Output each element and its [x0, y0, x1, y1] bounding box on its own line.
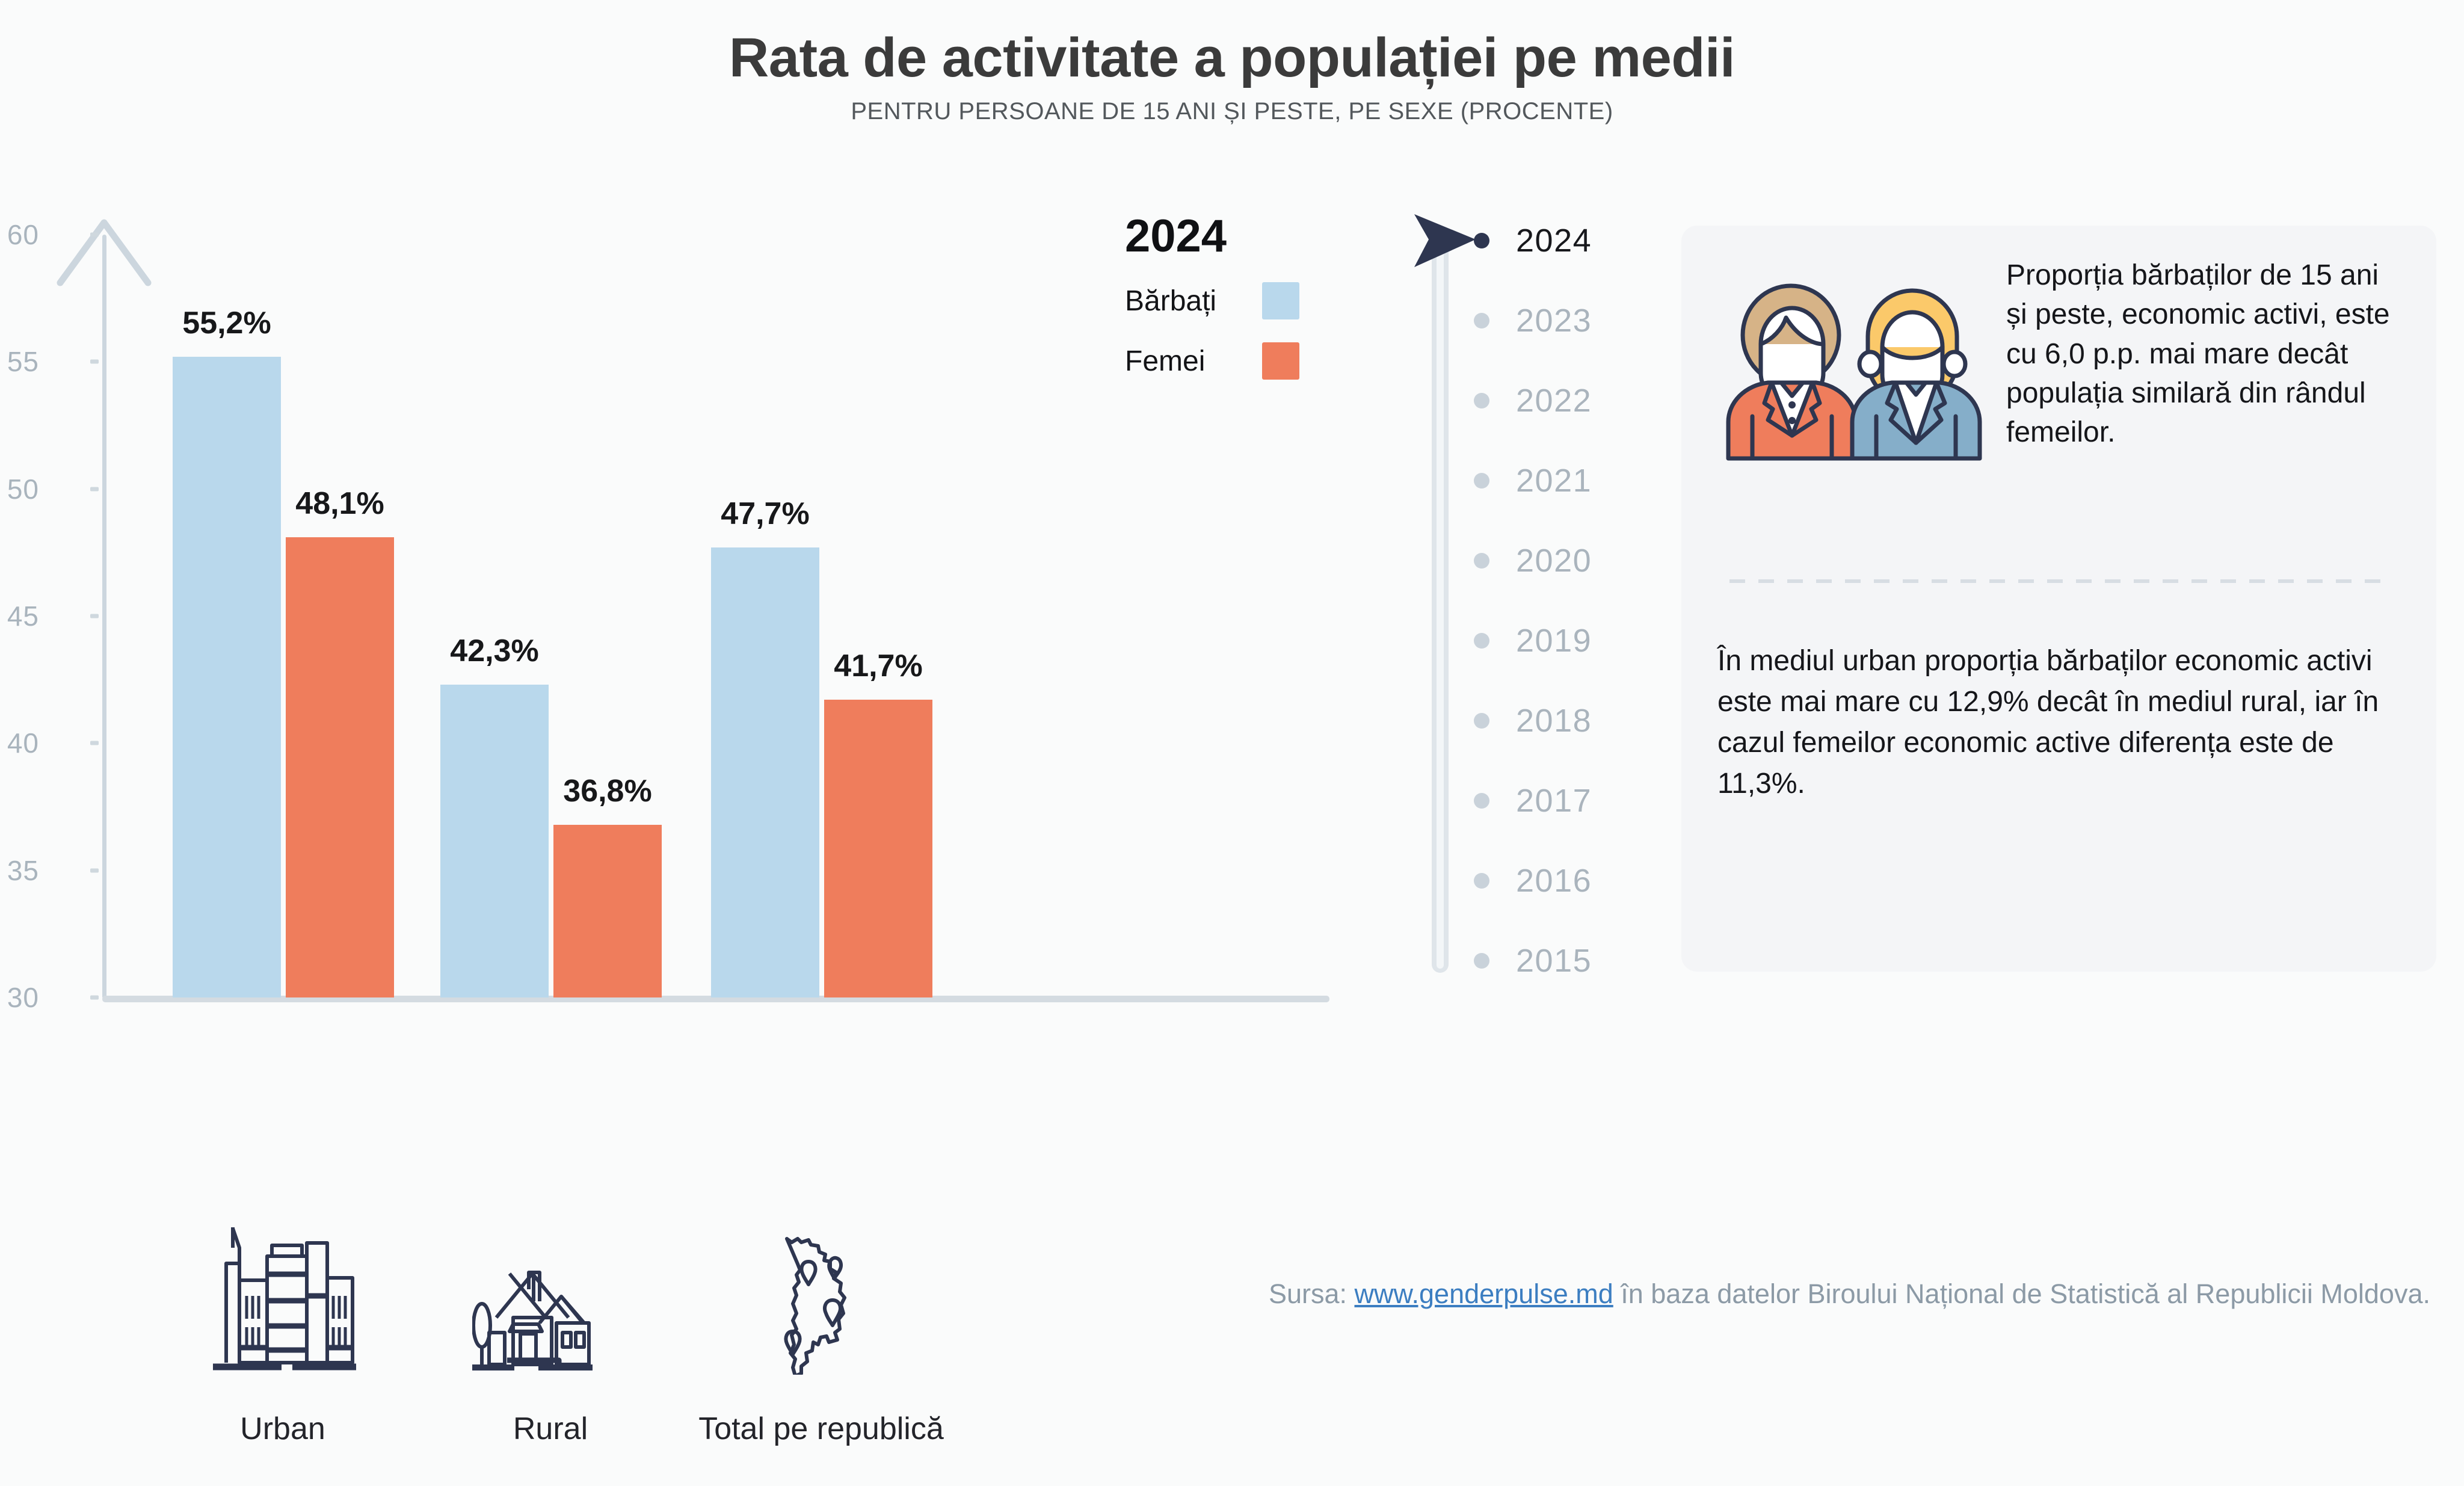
bar-fill — [440, 685, 549, 997]
chart-legend: 2024 Bărbați Femei — [1125, 214, 1323, 380]
timeline-dot — [1474, 873, 1489, 889]
page-subtitle: PENTRU PERSOANE DE 15 ANI ȘI PESTE, PE S… — [0, 98, 2464, 125]
year-timeline-selector[interactable]: 2024202320222021202020192018201720162015 — [1417, 223, 1645, 987]
page-header: Rata de activitate a populației pe medii… — [0, 0, 2464, 125]
timeline-dot — [1474, 553, 1489, 569]
timeline-year-2021[interactable]: 2021 — [1417, 463, 1645, 499]
info-panel-text-primary: Proporția bărbaților de 15 ani și peste,… — [2006, 256, 2403, 452]
page-title: Rata de activitate a populației pe medii — [0, 29, 2464, 87]
timeline-year-label: 2015 — [1516, 942, 1592, 979]
bar-value-label: 48,1% — [295, 486, 384, 522]
y-tick-mark — [90, 487, 99, 491]
timeline-year-2020[interactable]: 2020 — [1417, 543, 1645, 579]
bar-group: 42,3%36,8% — [440, 235, 662, 997]
timeline-year-label: 2024 — [1516, 222, 1592, 259]
y-tick-mark — [90, 741, 99, 745]
bar-male[interactable]: 55,2% — [173, 357, 281, 997]
category-item: Total pe republică — [635, 1215, 1008, 1447]
timeline-dot — [1474, 713, 1489, 729]
two-people-icon — [1719, 263, 1983, 461]
timeline-dot — [1474, 233, 1489, 248]
y-tick-label: 45 — [7, 600, 39, 632]
timeline-dot — [1474, 313, 1489, 328]
legend-row-male: Bărbați — [1125, 282, 1299, 319]
bar-value-label: 55,2% — [182, 305, 271, 341]
bar-male[interactable]: 42,3% — [440, 685, 549, 997]
y-tick-label: 40 — [7, 727, 39, 759]
info-panel: Proporția bărbaților de 15 ani și peste,… — [1681, 226, 2436, 972]
y-tick-mark — [90, 360, 99, 364]
legend-year: 2024 — [1125, 214, 1323, 259]
bar-value-label: 36,8% — [563, 773, 651, 809]
bar-male[interactable]: 47,7% — [711, 547, 819, 997]
timeline-track-inner — [1437, 241, 1444, 969]
y-tick-mark — [90, 868, 99, 872]
timeline-dot — [1474, 953, 1489, 969]
bar-group: 55,2%48,1% — [173, 235, 394, 997]
bar-fill — [286, 537, 394, 997]
y-tick-label: 35 — [7, 854, 39, 887]
timeline-year-2018[interactable]: 2018 — [1417, 703, 1645, 739]
info-panel-divider — [1729, 579, 2388, 583]
y-tick-label: 30 — [7, 981, 39, 1014]
source-link[interactable]: www.genderpulse.md — [1355, 1278, 1613, 1309]
y-tick-mark — [90, 233, 99, 237]
bar-fill — [711, 547, 819, 997]
timeline-year-2019[interactable]: 2019 — [1417, 623, 1645, 659]
bar-value-label: 47,7% — [721, 496, 809, 532]
bar-fill — [173, 357, 281, 997]
source-suffix: în baza datelor Biroului Național de Sta… — [1613, 1278, 2430, 1309]
bar-group: 47,7%41,7% — [711, 235, 932, 997]
category-label: Total pe republică — [635, 1411, 1008, 1447]
y-tick-mark — [90, 996, 99, 1000]
timeline-year-2022[interactable]: 2022 — [1417, 383, 1645, 419]
legend-swatch-female — [1262, 342, 1299, 380]
info-panel-text-secondary: În mediul urban proporția bărbaților eco… — [1717, 641, 2406, 805]
legend-swatch-male — [1262, 282, 1299, 319]
timeline-dot — [1474, 393, 1489, 408]
timeline-year-label: 2019 — [1516, 622, 1592, 659]
y-tick-label: 50 — [7, 473, 39, 505]
timeline-dot — [1474, 793, 1489, 809]
y-tick-label: 55 — [7, 345, 39, 378]
timeline-year-label: 2021 — [1516, 462, 1592, 499]
legend-label-male: Bărbați — [1125, 285, 1216, 318]
timeline-dot — [1474, 473, 1489, 489]
legend-label-female: Femei — [1125, 345, 1205, 378]
bar-value-label: 42,3% — [450, 633, 538, 669]
bar-fill — [824, 700, 932, 997]
bar-female[interactable]: 36,8% — [553, 825, 662, 997]
source-prefix: Sursa: — [1269, 1278, 1355, 1309]
timeline-year-label: 2023 — [1516, 302, 1592, 339]
timeline-year-2015[interactable]: 2015 — [1417, 943, 1645, 979]
bar-value-label: 41,7% — [834, 648, 922, 684]
timeline-year-label: 2016 — [1516, 862, 1592, 899]
category-axis: Urban Rural Total pe republică — [0, 1215, 1347, 1486]
timeline-year-2024[interactable]: 2024 — [1417, 223, 1645, 259]
timeline-year-2016[interactable]: 2016 — [1417, 863, 1645, 899]
bar-female[interactable]: 48,1% — [286, 537, 394, 997]
timeline-year-2017[interactable]: 2017 — [1417, 783, 1645, 819]
timeline-year-2023[interactable]: 2023 — [1417, 303, 1645, 339]
timeline-year-label: 2017 — [1516, 782, 1592, 819]
bar-fill — [553, 825, 662, 997]
timeline-year-label: 2020 — [1516, 542, 1592, 579]
timeline-year-label: 2018 — [1516, 702, 1592, 739]
info-panel-top: Proporția bărbaților de 15 ani și peste,… — [1681, 226, 2436, 508]
source-footer: Sursa: www.genderpulse.md în baza datelo… — [0, 1278, 2464, 1310]
legend-row-female: Femei — [1125, 342, 1299, 380]
y-tick-label: 60 — [7, 218, 39, 251]
timeline-year-label: 2022 — [1516, 382, 1592, 419]
bar-female[interactable]: 41,7% — [824, 700, 932, 997]
timeline-dot — [1474, 633, 1489, 649]
y-tick-mark — [90, 614, 99, 618]
